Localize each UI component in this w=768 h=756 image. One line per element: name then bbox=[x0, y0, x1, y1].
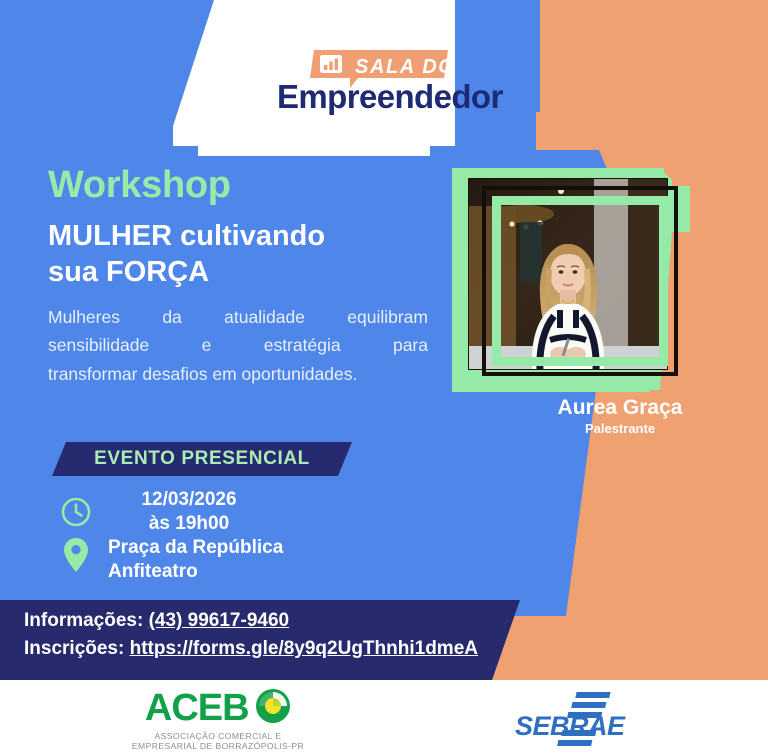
event-date: 12/03/2026 bbox=[141, 489, 236, 510]
workshop-eyebrow: Workshop bbox=[48, 166, 468, 206]
aceb-wordmark: ACEB bbox=[145, 689, 249, 727]
event-venue-text: Praça da República Anfiteatro bbox=[108, 536, 283, 585]
contact-phone[interactable]: (43) 99617-9460 bbox=[149, 610, 290, 631]
aceb-subtitle-line-1: ASSOCIAÇÃO COMERCIAL E bbox=[118, 731, 318, 741]
event-venue-line-1: Praça da República bbox=[108, 537, 283, 558]
hero-description-line-2: sensibilidade e estratégia para bbox=[48, 331, 428, 359]
event-time: às 19h00 bbox=[114, 512, 264, 536]
event-place-row: Praça da República Anfiteatro bbox=[60, 536, 283, 585]
event-type-badge: EVENTO PRESENCIAL bbox=[52, 442, 352, 476]
aceb-subtitle-line-2: EMPRESARIAL DE BORRAZÓPOLIS-PR bbox=[118, 741, 318, 751]
title-line-1: MULHER cultivando bbox=[48, 218, 488, 255]
map-pin-icon bbox=[60, 536, 92, 574]
contact-info-line: Informações: (43) 99617-9460 bbox=[24, 610, 289, 632]
sebrae-logo: SEBRAE bbox=[505, 690, 655, 750]
contact-signup-line: Inscrições: https://forms.gle/8y9q2UgThn… bbox=[24, 638, 478, 660]
white-step bbox=[173, 126, 196, 146]
poster-canvas: SALA DO Empreendedor Workshop MULHER cul… bbox=[0, 0, 768, 756]
brand-top-text: SALA DO bbox=[355, 56, 455, 79]
aceb-swirl-icon bbox=[255, 688, 291, 728]
contact-signup-label: Inscrições: bbox=[24, 638, 130, 659]
title-line-2: sua FORÇA bbox=[48, 254, 488, 291]
aceb-swirl-svg bbox=[255, 688, 291, 724]
event-venue-line-2: Anfiteatro bbox=[108, 560, 283, 584]
event-date-text: 12/03/2026 às 19h00 bbox=[114, 488, 264, 537]
event-type-badge-label: EVENTO PRESENCIAL bbox=[94, 448, 310, 470]
brand-bottom-text: Empreendedor bbox=[277, 78, 503, 116]
speaker-name: Aurea Graça bbox=[505, 396, 735, 420]
speaker-photo-svg bbox=[468, 178, 668, 370]
contact-info-label: Informações: bbox=[24, 610, 149, 631]
sebrae-wordmark: SEBRAE bbox=[515, 711, 625, 742]
hero-description: Mulheres da atualidade equilibram sensib… bbox=[48, 303, 428, 388]
hero-description-line-3: transformar desafios em oportunidades. bbox=[48, 360, 428, 388]
signup-link[interactable]: https://forms.gle/8y9q2UgThnhi1dmeA bbox=[130, 638, 478, 659]
speaker-photo bbox=[468, 178, 668, 370]
aceb-logo: ACEB ASSOCIAÇÃO COMERCIAL E EMPRESARIAL … bbox=[118, 688, 318, 751]
clock-icon bbox=[60, 496, 92, 528]
hero-description-line-1: Mulheres da atualidade equilibram bbox=[48, 303, 428, 331]
speaker-role: Palestrante bbox=[505, 421, 735, 436]
event-date-row: 12/03/2026 às 19h00 bbox=[60, 488, 264, 537]
